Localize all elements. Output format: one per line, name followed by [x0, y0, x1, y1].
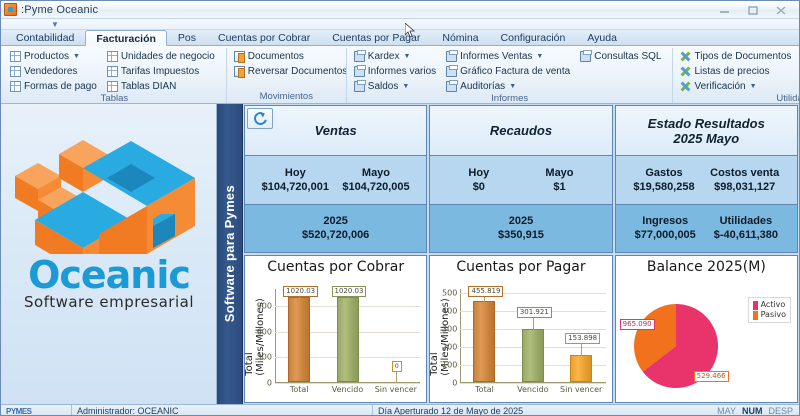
application-window: :Pyme Oceanic ▼ Contabilidad Facturación…: [0, 0, 800, 416]
chart-axes: 0100200300400500455.819Total301.921Venci…: [460, 289, 605, 383]
kpi-metric: 2025 $350,915: [498, 214, 544, 242]
table-icon: [10, 51, 21, 62]
kpi-label: Hoy: [468, 166, 489, 180]
y-axis-tick: 400: [442, 306, 457, 315]
chevron-down-icon[interactable]: ▼: [750, 83, 757, 90]
kpi-value: $104,720,001: [262, 180, 329, 194]
chevron-down-icon[interactable]: ▼: [73, 53, 80, 60]
logo: Oceanic Software empresarial: [9, 114, 209, 311]
kpi-metric: Mayo $1: [545, 166, 573, 194]
table-icon: [10, 81, 21, 92]
tab-cuentas-por-pagar[interactable]: Cuentas por Pagar: [321, 29, 431, 45]
ribbon-item-label: Vendedores: [24, 66, 77, 77]
ribbon-item-reversar-documentos[interactable]: Reversar Documentos: [231, 64, 350, 78]
tab-cuentas-por-cobrar[interactable]: Cuentas por Cobrar: [207, 29, 321, 45]
ribbon-item-tablas-dian[interactable]: Tablas DIAN: [104, 79, 218, 93]
logo-text: Oceanic Software empresarial: [9, 256, 209, 311]
tab-contabilidad[interactable]: Contabilidad: [5, 29, 85, 45]
document-icon: [234, 51, 245, 62]
title-bar: :Pyme Oceanic: [1, 1, 799, 19]
ribbon-item-label: Listas de precios: [694, 66, 769, 77]
y-axis-tick: 500: [442, 288, 457, 297]
status-indicator-desp: DESP: [768, 406, 793, 416]
table-icon: [107, 81, 118, 92]
print-icon: [446, 66, 457, 77]
kpi-label: Utilidades: [714, 214, 778, 228]
kpi-value: $104,720,005: [342, 180, 409, 194]
y-axis-tick: 0: [267, 379, 272, 388]
y-axis-tick: 300: [257, 353, 272, 362]
chart-gridline: [275, 383, 420, 384]
kpi-card-title: Recaudos: [490, 123, 552, 138]
ribbon-item-verificacion[interactable]: Verificación ▼: [677, 79, 794, 93]
kpi-label: Ingresos: [635, 214, 696, 228]
kpi-card-recaudos: Recaudos Hoy $0 Mayo $1: [429, 105, 612, 253]
tools-icon: [680, 66, 691, 77]
kpi-card-header: Recaudos: [430, 106, 611, 156]
dashboard: Ventas Hoy $104,720,001 Mayo $104,720,00…: [243, 104, 799, 404]
chart-title: Cuentas por Cobrar: [245, 256, 426, 275]
kpi-metric: Hoy $104,720,001: [262, 166, 329, 194]
legend-swatch: [753, 301, 758, 310]
status-logo: PYMES: [1, 405, 71, 416]
document-icon: [234, 66, 245, 77]
y-axis-tick: 100: [442, 360, 457, 369]
ribbon-item-documentos[interactable]: Documentos: [231, 49, 350, 63]
tools-icon: [680, 51, 691, 62]
ribbon-item-label: Tarifas Impuestos: [121, 66, 199, 77]
kpi-value: $77,000,005: [635, 228, 696, 242]
chart-cuentas-por-pagar[interactable]: Cuentas por Pagar Total (Miles/Millones)…: [429, 255, 612, 403]
close-icon[interactable]: [767, 2, 795, 18]
kpi-label: Mayo: [342, 166, 409, 180]
window-title: :Pyme Oceanic: [21, 4, 98, 16]
kpi-label: Costos venta: [710, 166, 779, 180]
side-strip: Software para Pymes: [217, 104, 243, 404]
chart-data-label: 1020.03: [283, 286, 318, 297]
ribbon-item-formas-de-pago[interactable]: Formas de pago: [7, 79, 100, 93]
print-icon: [580, 51, 591, 62]
y-axis-tick: 200: [442, 342, 457, 351]
legend-label: Activo: [761, 300, 786, 310]
kpi-metric: 2025 $520,720,006: [302, 214, 369, 242]
kpi-value: $-40,611,380: [714, 228, 778, 242]
ribbon-item-label: Saldos: [368, 81, 399, 92]
legend-swatch: [753, 311, 758, 320]
tab-nomina[interactable]: Nómina: [431, 29, 489, 45]
refresh-icon: [251, 110, 269, 128]
ribbon-group-informes: Kardex ▼ Informes varios Saldos ▼: [346, 48, 673, 103]
brand-name: Oceanic: [9, 256, 209, 294]
kpi-card-estado-resultados: Estado Resultados 2025 Mayo Gastos $19,5…: [615, 105, 798, 253]
ribbon-item-label: Informes Ventas: [460, 51, 532, 62]
kpi-card-ventas: Ventas Hoy $104,720,001 Mayo $104,720,00…: [244, 105, 427, 253]
ribbon-item-label: Tipos de Documentos: [694, 51, 791, 62]
ribbon-item-grafico-factura-de-venta[interactable]: Gráfico Factura de venta: [443, 64, 573, 78]
ribbon-item-label: Unidades de negocio: [121, 51, 215, 62]
y-axis-tick: 300: [442, 324, 457, 333]
kpi-card-header: Ventas: [245, 106, 426, 156]
y-axis-tick: 600: [257, 327, 272, 336]
ribbon-group-label: Movimientos: [231, 91, 342, 103]
chevron-down-icon[interactable]: ▼: [536, 53, 543, 60]
chart-bar[interactable]: [570, 355, 592, 382]
ribbon-item-auditorias[interactable]: Auditorías ▼: [443, 79, 573, 93]
y-axis-line: [460, 289, 461, 383]
print-icon: [354, 66, 365, 77]
logo-artwork: [11, 114, 207, 254]
tab-ayuda[interactable]: Ayuda: [576, 29, 628, 45]
status-user: Administrador: OCEANIC: [72, 405, 372, 416]
chart-bar[interactable]: [288, 297, 310, 382]
app-icon: [4, 3, 17, 16]
chart-plot: Activo Pasivo 965.090 529.466: [616, 275, 797, 399]
legend-item-activo: Activo: [753, 300, 786, 310]
print-icon: [354, 51, 365, 62]
maximize-icon[interactable]: [739, 2, 767, 18]
chart-bar[interactable]: [522, 329, 544, 382]
window-controls: [711, 1, 795, 19]
status-indicators: MAY NUM DESP: [717, 406, 799, 416]
ribbon-item-label: Kardex: [368, 51, 400, 62]
main-content: Oceanic Software empresarial Software pa…: [1, 104, 799, 404]
status-indicator-may: MAY: [717, 406, 736, 416]
chart-plot: Total (Miles/Millones) 03006009001020.03…: [245, 275, 426, 399]
kpi-value: $0: [468, 180, 489, 194]
kpi-card-mid: Hoy $104,720,001 Mayo $104,720,005: [245, 156, 426, 205]
x-axis-tick: Total: [475, 385, 494, 394]
chart-bar[interactable]: [337, 297, 359, 382]
chart-data-label: 0: [392, 361, 402, 372]
kpi-card-header: Estado Resultados 2025 Mayo: [616, 106, 797, 156]
chart-balance[interactable]: Balance 2025(M) Activo Pasivo: [615, 255, 798, 403]
kpi-card-mid: Hoy $0 Mayo $1: [430, 156, 611, 205]
kpi-card-mid: Gastos $19,580,258 Costos venta $98,031,…: [616, 156, 797, 205]
kpi-card-bottom: 2025 $350,915: [430, 205, 611, 253]
kpi-label: Mayo: [545, 166, 573, 180]
pie-data-label-pasivo: 529.466: [694, 371, 729, 382]
ribbon-item-label: Productos: [24, 51, 69, 62]
chart-label-leader: [581, 342, 582, 356]
ribbon-item-consultas-sql[interactable]: Consultas SQL: [577, 49, 664, 63]
kpi-label: 2025: [498, 214, 544, 228]
kpi-card-title-line1: Estado Resultados: [648, 116, 765, 131]
tools-icon: [680, 81, 691, 92]
refresh-button[interactable]: [247, 108, 273, 129]
quick-access-dropdown-icon[interactable]: ▼: [51, 20, 59, 29]
y-axis-line: [275, 289, 276, 383]
x-axis-tick: Total: [290, 385, 309, 394]
x-axis-tick: Sin vencer: [375, 385, 417, 394]
chart-gridline: [460, 383, 605, 384]
ribbon-item-kardex[interactable]: Kardex ▼: [351, 49, 439, 63]
ribbon-item-label: Consultas SQL: [594, 51, 661, 62]
kpi-metric: Ingresos $77,000,005: [635, 214, 696, 242]
print-icon: [354, 81, 365, 92]
print-icon: [446, 51, 457, 62]
status-date: Día Aperturado 12 de Mayo de 2025: [373, 405, 528, 416]
legend-item-pasivo: Pasivo: [753, 310, 786, 320]
side-strip-label: Software para Pymes: [222, 185, 237, 322]
kpi-value: $19,580,258: [633, 180, 694, 194]
chart-axes: 03006009001020.03Total1020.03Vencido0Sin…: [275, 289, 420, 383]
kpi-value: $350,915: [498, 228, 544, 242]
ribbon-item-unidades-de-negocio[interactable]: Unidades de negocio: [104, 49, 218, 63]
ribbon-item-label: Reversar Documentos: [248, 66, 347, 77]
ribbon-item-label: Documentos: [248, 51, 304, 62]
legend-label: Pasivo: [761, 310, 786, 320]
ribbon-item-listas-de-precios[interactable]: Listas de precios: [677, 64, 794, 78]
chart-legend: Activo Pasivo: [748, 297, 791, 323]
table-icon: [10, 66, 21, 77]
ribbon-item-productos[interactable]: Productos ▼: [7, 49, 100, 63]
chart-cuentas-por-cobrar[interactable]: Cuentas por Cobrar Total (Miles/Millones…: [244, 255, 427, 403]
ribbon-item-informes-ventas[interactable]: Informes Ventas ▼: [443, 49, 573, 63]
table-icon: [107, 51, 118, 62]
x-axis-tick: Vencido: [332, 385, 363, 394]
kpi-label: Hoy: [262, 166, 329, 180]
ribbon-item-label: Tablas DIAN: [121, 81, 177, 92]
kpi-card-title: Ventas: [315, 123, 357, 138]
chart-data-label: 455.819: [468, 286, 503, 297]
ribbon-item-label: Informes varios: [368, 66, 436, 77]
ribbon-item-tarifas-impuestos[interactable]: Tarifas Impuestos: [104, 64, 218, 78]
chart-data-label: 1020.03: [332, 286, 367, 297]
kpi-card-bottom: 2025 $520,720,006: [245, 205, 426, 253]
chart-data-label: 301.921: [517, 307, 552, 318]
chart-bar[interactable]: [473, 301, 495, 382]
kpi-metric: Utilidades $-40,611,380: [714, 214, 778, 242]
chart-title: Cuentas por Pagar: [430, 256, 611, 275]
kpi-row: Ventas Hoy $104,720,001 Mayo $104,720,00…: [244, 105, 798, 253]
chart-title: Balance 2025(M): [616, 256, 797, 275]
kpi-metric: Gastos $19,580,258: [633, 166, 694, 194]
ribbon-panel: Productos ▼ Vendedores Formas de pago: [1, 46, 799, 104]
x-axis-tick: Vencido: [517, 385, 548, 394]
pie-data-label-activo: 965.090: [620, 319, 655, 330]
chart-label-leader: [533, 316, 534, 330]
ribbon-item-label: Auditorías: [460, 81, 505, 92]
kpi-label: Gastos: [633, 166, 694, 180]
kpi-metric: Mayo $104,720,005: [342, 166, 409, 194]
print-icon: [446, 81, 457, 92]
ribbon-item-vendedores[interactable]: Vendedores: [7, 64, 100, 78]
chart-plot: Total (Miles/Millones) 01002003004005004…: [430, 275, 611, 399]
status-indicator-num: NUM: [742, 406, 763, 416]
brand-tagline: Software empresarial: [9, 294, 209, 311]
kpi-value: $98,031,127: [710, 180, 779, 194]
kpi-value: $1: [545, 180, 573, 194]
chart-data-label: 153.898: [565, 333, 600, 344]
kpi-metric: Hoy $0: [468, 166, 489, 194]
status-bar: PYMES Administrador: OCEANIC Día Apertur…: [1, 404, 799, 416]
minimize-icon[interactable]: [711, 2, 739, 18]
chevron-down-icon[interactable]: ▼: [403, 53, 410, 60]
y-axis-tick: 900: [257, 302, 272, 311]
kpi-card-title-line2: 2025 Mayo: [673, 131, 739, 146]
ribbon-item-label: Verificación: [694, 81, 745, 92]
tab-facturacion[interactable]: Facturación: [85, 30, 167, 46]
kpi-card-bottom: Ingresos $77,000,005 Utilidades $-40,611…: [616, 205, 797, 253]
chevron-down-icon[interactable]: ▼: [509, 83, 516, 90]
kpi-metric: Costos venta $98,031,127: [710, 166, 779, 194]
y-axis-tick: 0: [452, 379, 457, 388]
tab-configuracion[interactable]: Configuración: [490, 29, 577, 45]
kpi-value: $520,720,006: [302, 228, 369, 242]
chevron-down-icon[interactable]: ▼: [402, 83, 409, 90]
kpi-card-title: Estado Resultados 2025 Mayo: [648, 116, 765, 146]
ribbon-group-tablas: Productos ▼ Vendedores Formas de pago: [3, 48, 226, 103]
ribbon-tabs: Contabilidad Facturación Pos Cuentas por…: [1, 30, 799, 46]
ribbon-item-label: Gráfico Factura de venta: [460, 66, 570, 77]
ribbon-item-saldos[interactable]: Saldos ▼: [351, 79, 439, 93]
ribbon-item-informes-varios[interactable]: Informes varios: [351, 64, 439, 78]
ribbon-item-label: Formas de pago: [24, 81, 97, 92]
ribbon-group-movimientos: Documentos Reversar Documentos Movimient…: [226, 48, 346, 103]
tab-pos[interactable]: Pos: [167, 29, 207, 45]
branding-panel: Oceanic Software empresarial: [1, 104, 217, 404]
chart-row: Cuentas por Cobrar Total (Miles/Millones…: [244, 255, 798, 403]
ribbon-item-tipos-de-documentos[interactable]: Tipos de Documentos: [677, 49, 794, 63]
x-axis-tick: Sin vencer: [560, 385, 602, 394]
kpi-label: 2025: [302, 214, 369, 228]
ribbon-group-utilidades: Tipos de Documentos Listas de precios Ve…: [672, 48, 800, 103]
table-icon: [107, 66, 118, 77]
